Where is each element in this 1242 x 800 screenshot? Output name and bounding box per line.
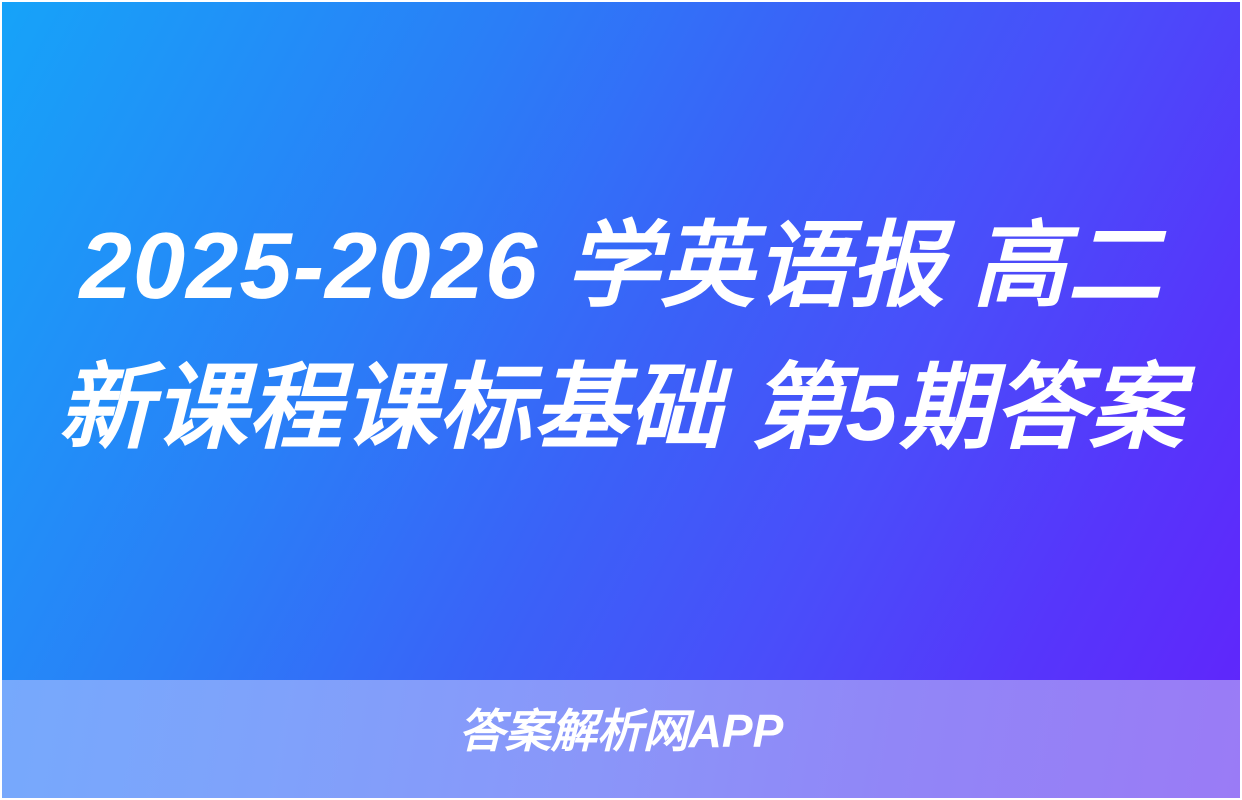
watermark-band: 答案解析网APP [2, 680, 1240, 798]
poster-root: 2025-2026 学英语报 高二 新课程课标基础 第5期答案 答案解析网APP [0, 0, 1242, 800]
page-title: 2025-2026 学英语报 高二 新课程课标基础 第5期答案 [51, 195, 1191, 479]
app-watermark-label: 答案解析网APP [459, 706, 784, 756]
hero-banner: 2025-2026 学英语报 高二 新课程课标基础 第5期答案 [2, 2, 1240, 680]
